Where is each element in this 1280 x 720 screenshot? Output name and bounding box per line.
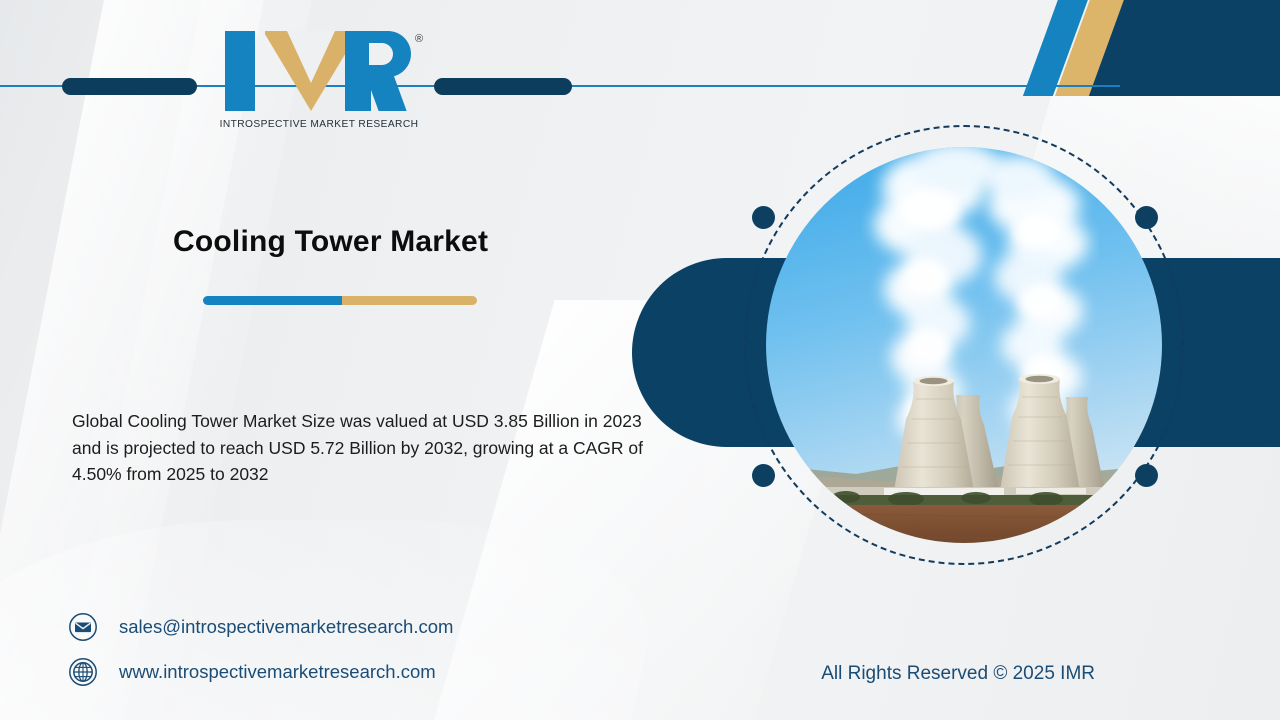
page-title: Cooling Tower Market [173,225,488,259]
contact-website-row[interactable]: www.introspectivemarketresearch.com [68,657,436,687]
accent-dot-top-right [1135,206,1158,229]
accent-dot-top-left [752,206,775,229]
globe-icon [68,657,98,687]
logo-r-counter [369,43,393,65]
imr-logo: ® INTROSPECTIVE MARKET RESEARCH [219,31,419,143]
copyright-text: All Rights Reserved © 2025 IMR [821,663,1095,685]
logo-tagline: INTROSPECTIVE MARKET RESEARCH [219,119,419,130]
divider-segment-gold [342,296,477,305]
title-divider [203,296,477,305]
contact-email-row[interactable]: sales@introspectivemarketresearch.com [68,612,453,642]
envelope-icon [68,612,98,642]
header-pill-right [434,78,572,95]
header-pill-left [62,78,197,95]
email-address[interactable]: sales@introspectivemarketresearch.com [119,616,453,638]
accent-dot-bottom-left [752,464,775,487]
cooling-tower-photo [766,147,1162,543]
registered-trademark-icon: ® [415,33,423,45]
logo-letter-r [345,31,411,111]
accent-dot-bottom-right [1135,464,1158,487]
logo-mark: ® [225,31,411,111]
website-url[interactable]: www.introspectivemarketresearch.com [119,661,436,683]
divider-segment-blue [203,296,342,305]
logo-letter-i [225,31,255,111]
market-summary-text: Global Cooling Tower Market Size was val… [72,408,647,488]
